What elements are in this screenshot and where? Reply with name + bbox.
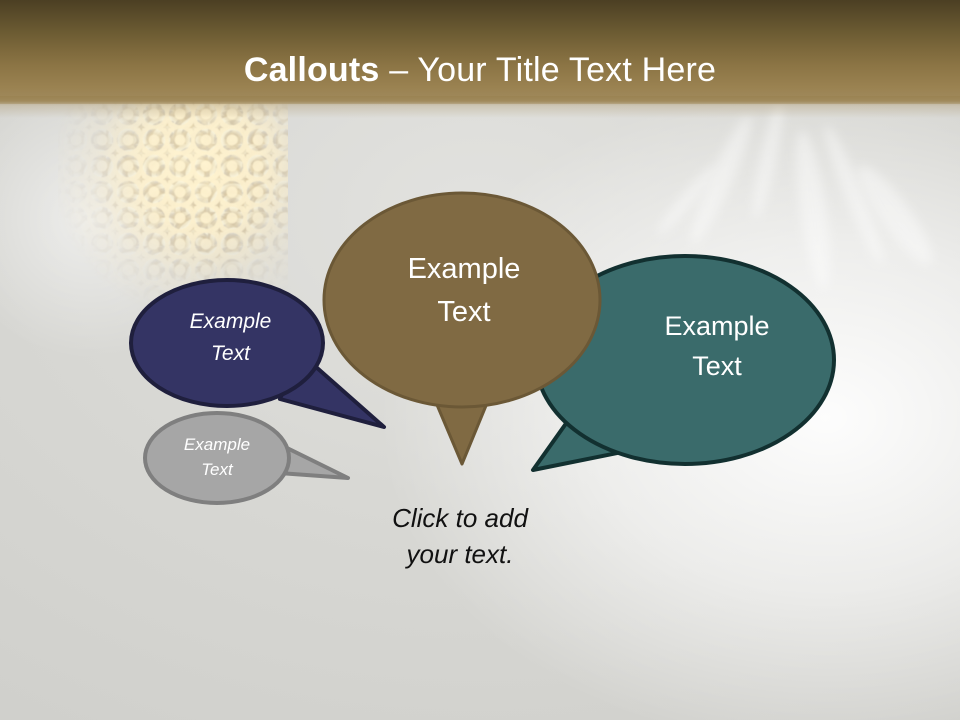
slide-canvas: Callouts – Your Title Text Here Example … — [0, 0, 960, 720]
callout-brown[interactable]: Example Text — [320, 188, 610, 478]
callout-navy-bubble — [131, 280, 323, 406]
callout-brown-bubble — [324, 193, 600, 407]
title-band-fade — [0, 96, 960, 118]
page-title: Callouts – Your Title Text Here — [0, 50, 960, 90]
page-title-strong: Callouts — [244, 51, 380, 89]
click-to-add-text-placeholder[interactable]: Click to add your text. — [300, 500, 620, 572]
page-title-rest: – Your Title Text Here — [380, 51, 717, 89]
